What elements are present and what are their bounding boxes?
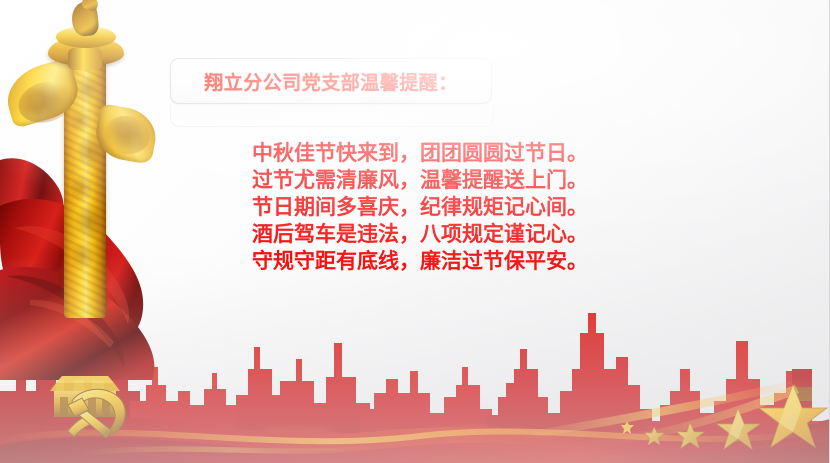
verse-line-5: 守规守距有底线，廉洁过节保平安。 bbox=[252, 248, 612, 275]
huabiao-column bbox=[24, 0, 156, 326]
stars-svg bbox=[599, 365, 829, 455]
huabiao-neck bbox=[68, 48, 102, 70]
header-reflection bbox=[170, 104, 494, 127]
star-large bbox=[759, 385, 827, 447]
verse-line-3: 节日期间多喜庆，纪律规矩记心间。 bbox=[252, 194, 612, 221]
header-banner: 翔立分公司党支部温馨提醒： bbox=[170, 58, 492, 104]
slide-canvas: 翔立分公司党支部温馨提醒： 中秋佳节快来到，团团圆圆过节日。 过节尤需清廉风，温… bbox=[0, 0, 830, 463]
verse-line-2: 过节尤需清廉风，温馨提醒送上门。 bbox=[252, 167, 612, 194]
header-title: 翔立分公司党支部温馨提醒： bbox=[204, 68, 458, 95]
header-box: 翔立分公司党支部温馨提醒： bbox=[170, 58, 492, 104]
gold-stars-group bbox=[599, 365, 829, 455]
star-spark bbox=[621, 421, 634, 434]
emblem-svg bbox=[46, 365, 142, 451]
party-emblem-group bbox=[46, 365, 142, 451]
verse-block: 中秋佳节快来到，团团圆圆过节日。 过节尤需清廉风，温馨提醒送上门。 节日期间多喜… bbox=[252, 140, 612, 275]
verse-line-1: 中秋佳节快来到，团团圆圆过节日。 bbox=[252, 140, 612, 167]
verse-line-4: 酒后驾车是违法，八项规定谨记心。 bbox=[252, 221, 612, 248]
